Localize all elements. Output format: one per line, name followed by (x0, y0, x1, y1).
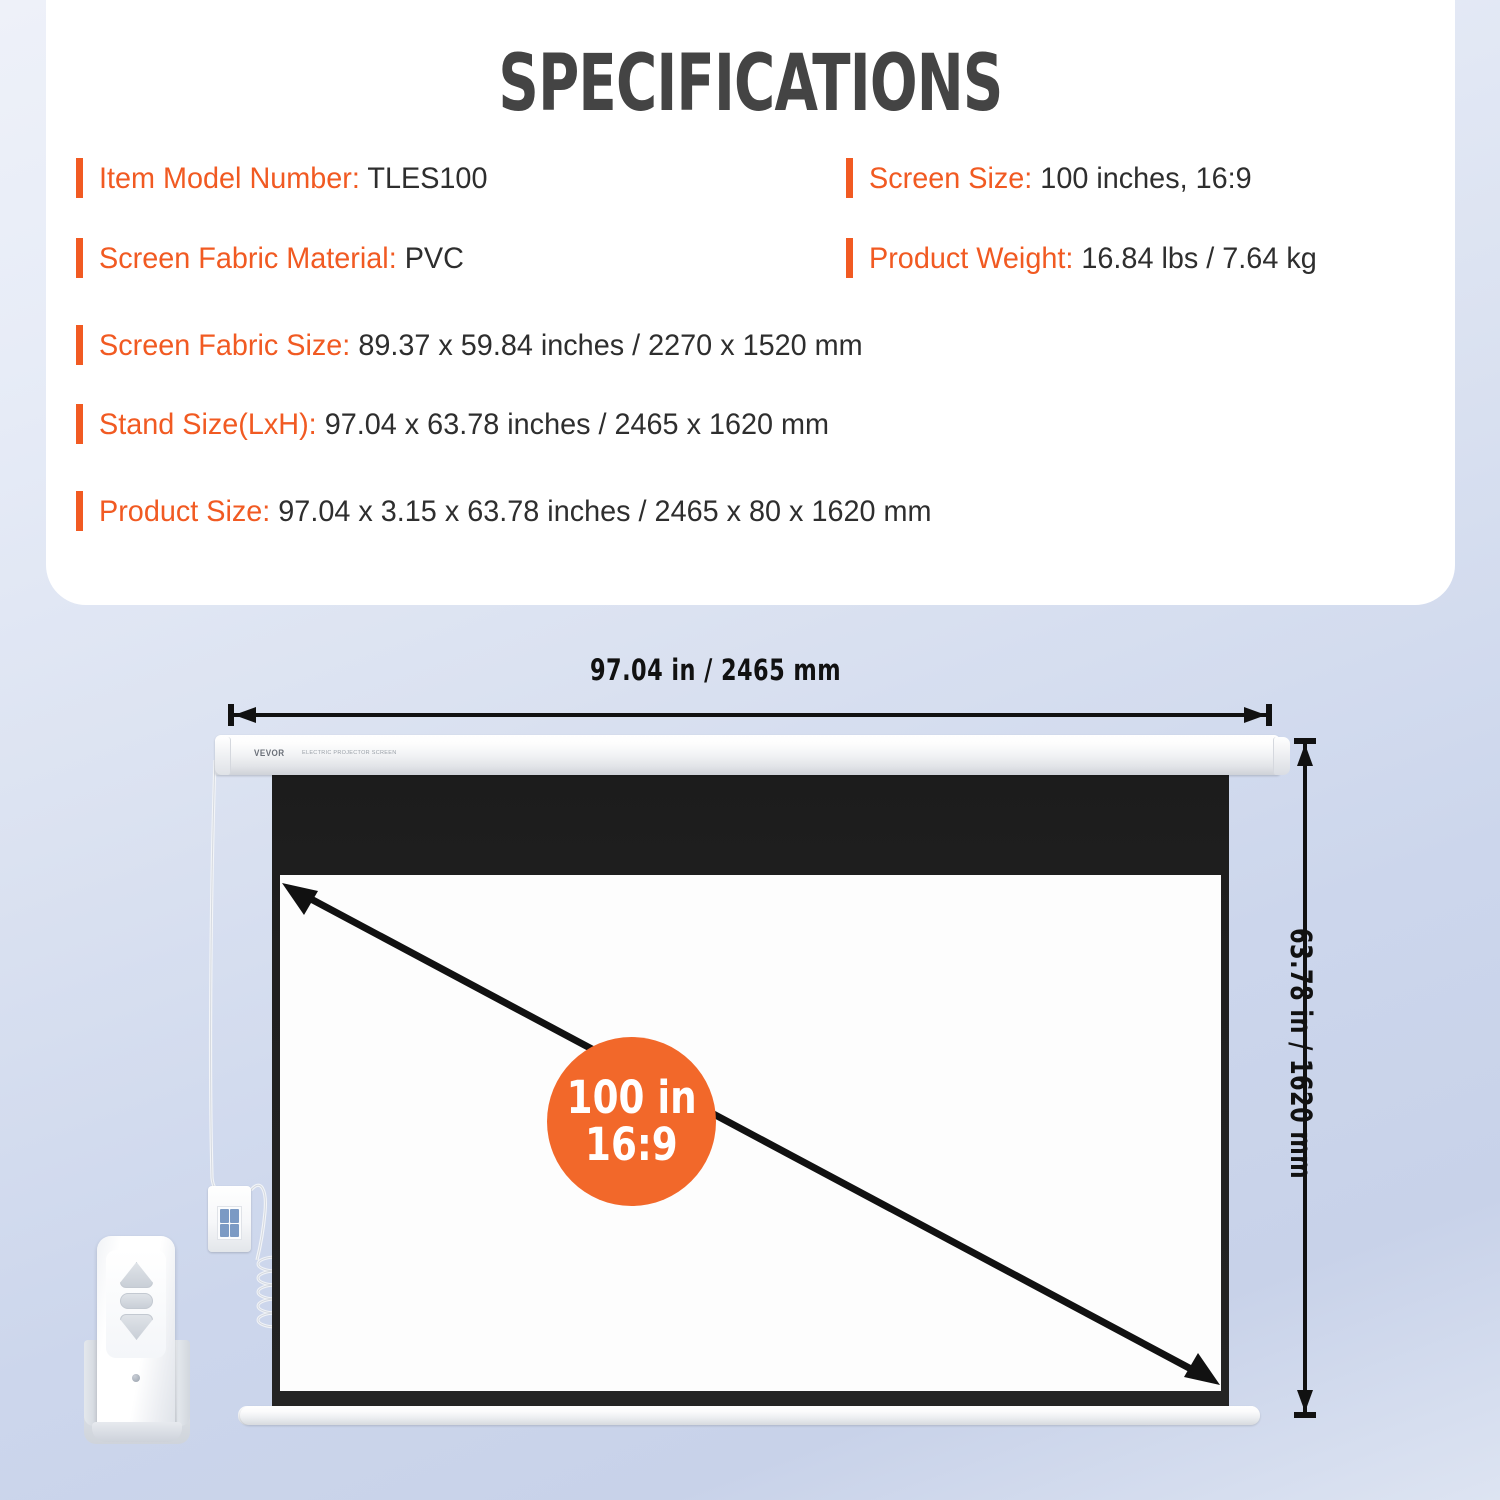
accent-bar-icon (846, 238, 853, 278)
remote-down-button[interactable] (120, 1314, 153, 1340)
accent-bar-icon (76, 404, 83, 444)
accent-bar-icon (76, 325, 83, 365)
spec-row-product-weight: Product Weight: 16.84 lbs / 7.64 kg (846, 238, 1335, 278)
remote-body[interactable] (97, 1236, 175, 1430)
spec-label: Stand Size(LxH): (99, 408, 317, 441)
spec-label: Screen Size: (869, 162, 1032, 195)
spec-value: 97.04 x 63.78 inches / 2465 x 1620 mm (325, 408, 829, 441)
spec-label: Screen Fabric Size: (99, 329, 350, 362)
badge-size-line: 100 in (566, 1075, 696, 1122)
spec-label: Product Weight: (869, 242, 1073, 275)
bracket-lip-left (84, 1340, 97, 1426)
spec-row-screen-fabric-material: Screen Fabric Material: PVC (76, 238, 479, 278)
spec-value: 16.84 lbs / 7.64 kg (1081, 242, 1316, 275)
spec-row-screen-size: Screen Size: 100 inches, 16:9 (846, 158, 1268, 198)
width-dimension-line (228, 704, 1272, 726)
spec-row-stand-size: Stand Size(LxH): 97.04 x 63.78 inches / … (76, 404, 859, 444)
spec-row-screen-fabric-size: Screen Fabric Size: 89.37 x 59.84 inches… (76, 325, 894, 365)
spec-value: 89.37 x 59.84 inches / 2270 x 1520 mm (358, 329, 862, 362)
accent-bar-icon (76, 491, 83, 531)
remote-up-button[interactable] (120, 1262, 153, 1288)
accent-bar-icon (76, 158, 83, 198)
spec-value: 97.04 x 3.15 x 63.78 inches / 2465 x 80 … (278, 495, 931, 528)
page-title: SPECIFICATIONS (187, 45, 1314, 123)
remote-led-indicator (132, 1374, 140, 1382)
spec-value: TLES100 (367, 162, 487, 195)
bracket-base (92, 1422, 182, 1442)
accent-bar-icon (846, 158, 853, 198)
remote-control[interactable] (84, 1236, 190, 1444)
projector-screen-assembly: VEVOR ELECTRIC PROJECTOR SCREEN 100 in 1… (210, 735, 1285, 1435)
specifications-card: SPECIFICATIONS Item Model Number: TLES10… (46, 0, 1455, 605)
spec-row-product-size: Product Size: 97.04 x 3.15 x 63.78 inche… (76, 491, 966, 531)
spec-row-item-model-number: Item Model Number: TLES100 (76, 158, 504, 198)
spec-value: 100 inches, 16:9 (1040, 162, 1251, 195)
bracket-lip-right (177, 1340, 190, 1426)
diagonal-measure-arrow (210, 735, 1285, 1435)
width-dimension-label: 97.04 in / 2465 mm (590, 653, 841, 687)
spec-label: Item Model Number: (99, 162, 360, 195)
spec-label: Product Size: (99, 495, 270, 528)
remote-button-panel[interactable] (106, 1250, 166, 1358)
height-dimension-line (1294, 738, 1316, 1418)
badge-ratio-line: 16:9 (585, 1122, 678, 1169)
spec-label: Screen Fabric Material: (99, 242, 397, 275)
remote-stop-button[interactable] (120, 1293, 153, 1309)
spec-value: PVC (405, 242, 464, 275)
accent-bar-icon (76, 238, 83, 278)
screen-size-badge: 100 in 16:9 (547, 1037, 716, 1206)
